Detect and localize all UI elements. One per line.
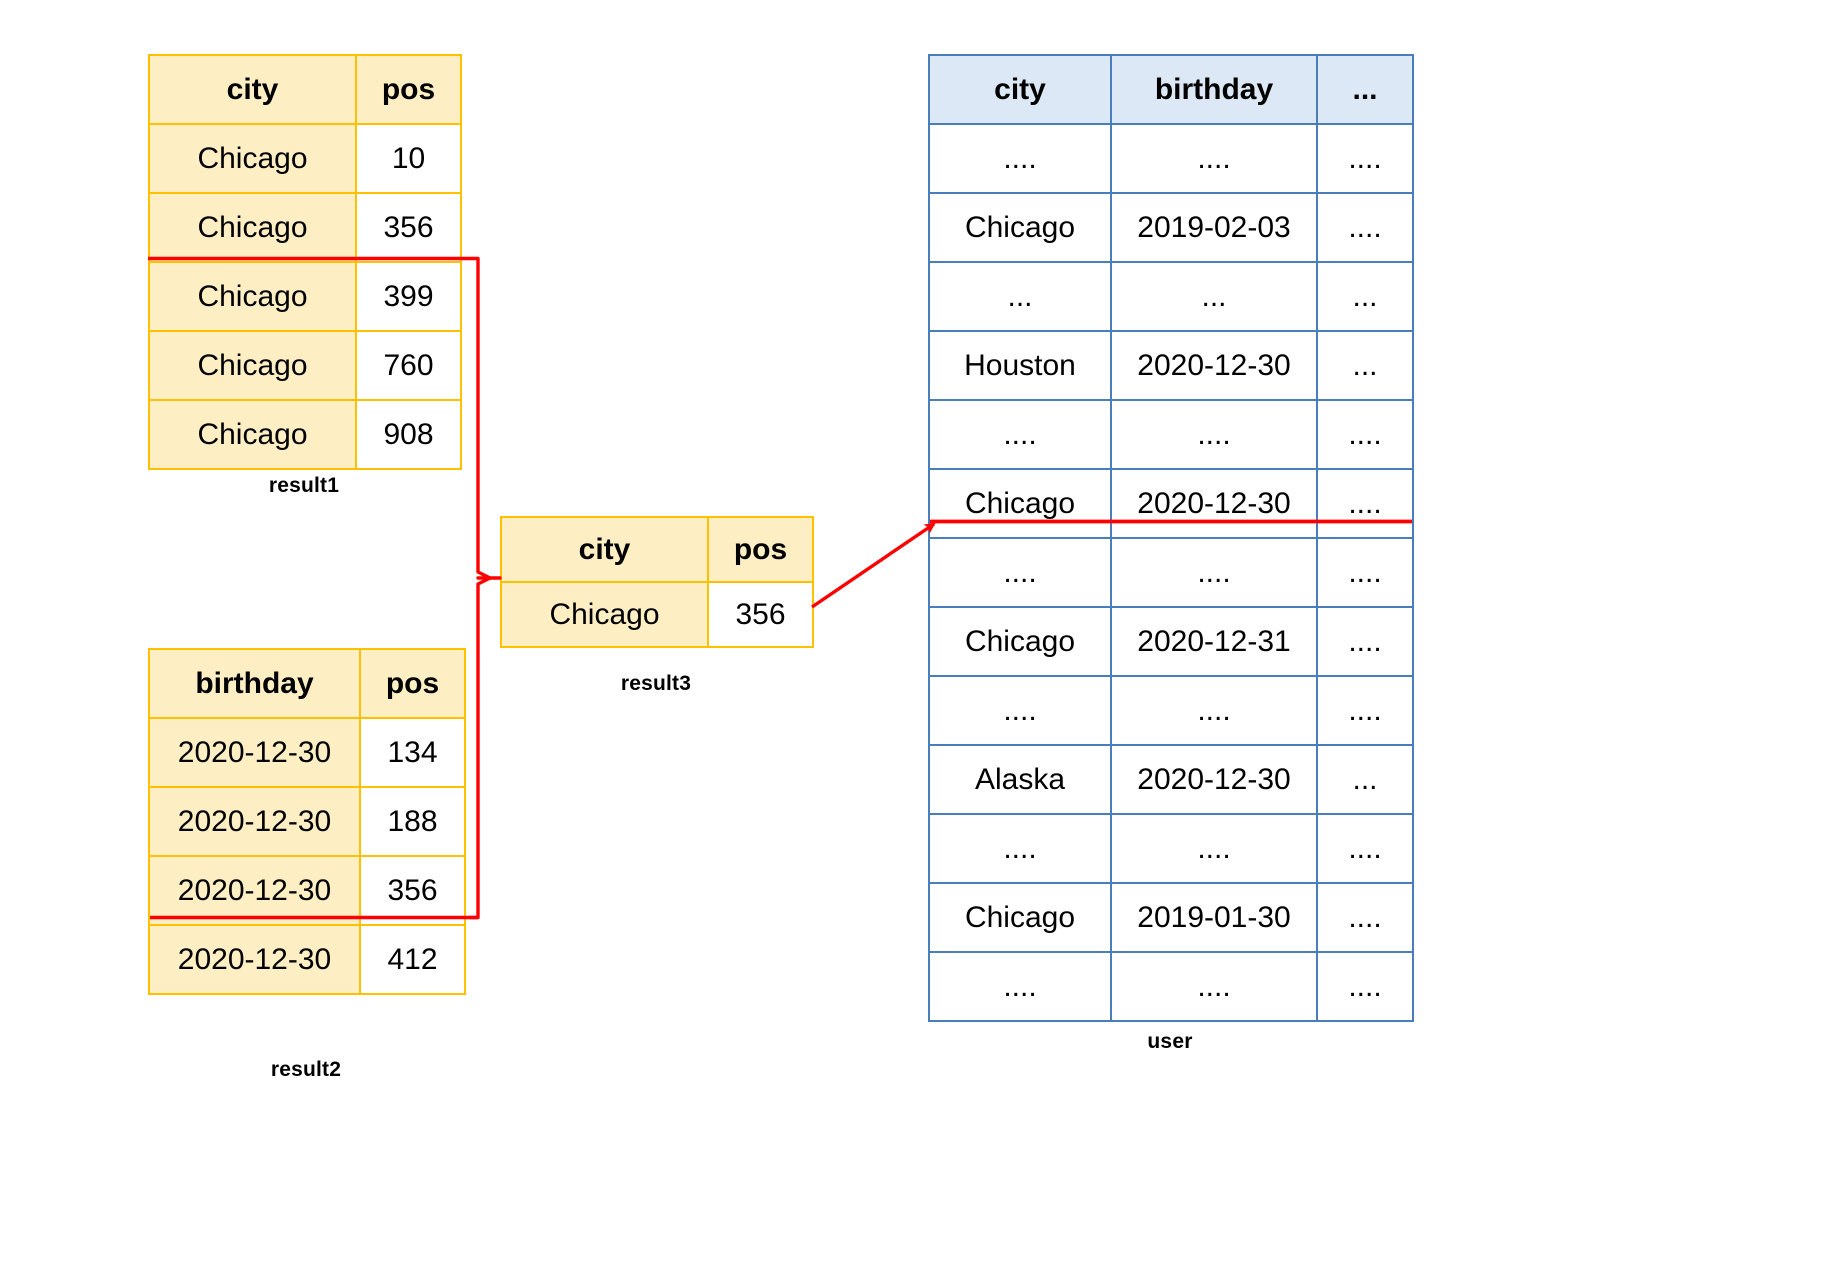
- cell-birthday: 2020-12-30: [149, 787, 360, 856]
- table-row: Houston 2020-12-30 ...: [929, 331, 1413, 400]
- column-header-birthday: birthday: [149, 649, 360, 718]
- cell-birthday: 2020-12-30: [1111, 469, 1317, 538]
- table-row: 2020-12-30 412: [149, 925, 465, 994]
- cell-city: Chicago: [149, 124, 356, 193]
- table-row: .... .... ....: [929, 676, 1413, 745]
- cell-extra: ....: [1317, 676, 1413, 745]
- column-header-pos: pos: [708, 517, 813, 582]
- cell-city: Chicago: [929, 883, 1111, 952]
- cell-birthday: ....: [1111, 124, 1317, 193]
- cell-pos: 134: [360, 718, 465, 787]
- cell-pos: 10: [356, 124, 461, 193]
- cell-birthday: 2019-01-30: [1111, 883, 1317, 952]
- cell-birthday: ....: [1111, 814, 1317, 883]
- cell-city: ....: [929, 400, 1111, 469]
- cell-city: Chicago: [149, 331, 356, 400]
- table-row: .... .... ....: [929, 124, 1413, 193]
- cell-extra: ...: [1317, 331, 1413, 400]
- cell-extra: ....: [1317, 883, 1413, 952]
- result3-caption: result3: [500, 672, 812, 696]
- user-table: city birthday ... .... .... .... Chicago…: [928, 54, 1414, 1022]
- table-row: Chicago 2020-12-30 ....: [929, 469, 1413, 538]
- cell-extra: ...: [1317, 262, 1413, 331]
- cell-birthday: 2020-12-31: [1111, 607, 1317, 676]
- cell-extra: ....: [1317, 400, 1413, 469]
- column-header-city: city: [501, 517, 708, 582]
- cell-pos: 356: [708, 582, 813, 647]
- cell-city: ....: [929, 814, 1111, 883]
- cell-city: ....: [929, 124, 1111, 193]
- cell-pos: 908: [356, 400, 461, 469]
- result1-caption: result1: [148, 474, 460, 498]
- table-row: .... .... ....: [929, 952, 1413, 1021]
- table-row: Chicago 908: [149, 400, 461, 469]
- table-row: 2020-12-30 188: [149, 787, 465, 856]
- cell-pos: 356: [360, 856, 465, 925]
- cell-city: Chicago: [149, 262, 356, 331]
- cell-city: ...: [929, 262, 1111, 331]
- table-row: 2020-12-30 134: [149, 718, 465, 787]
- cell-city: Chicago: [929, 193, 1111, 262]
- column-header-ellipsis: ...: [1317, 55, 1413, 124]
- diagram-canvas: city pos Chicago 10 Chicago 356 Chicago …: [0, 0, 1828, 1262]
- result3-to-user-arrow: [812, 524, 934, 607]
- cell-extra: ....: [1317, 814, 1413, 883]
- cell-birthday: 2020-12-30: [149, 856, 360, 925]
- cell-pos: 356: [356, 193, 461, 262]
- cell-city: ....: [929, 538, 1111, 607]
- result2-table: birthday pos 2020-12-30 134 2020-12-30 1…: [148, 648, 466, 995]
- cell-pos: 412: [360, 925, 465, 994]
- cell-extra: ....: [1317, 538, 1413, 607]
- cell-extra: ....: [1317, 193, 1413, 262]
- table-row: 2020-12-30 356: [149, 856, 465, 925]
- result2-caption: result2: [148, 1058, 464, 1082]
- cell-extra: ....: [1317, 124, 1413, 193]
- column-header-city: city: [149, 55, 356, 124]
- cell-birthday: ....: [1111, 400, 1317, 469]
- column-header-city: city: [929, 55, 1111, 124]
- table-header-row: birthday pos: [149, 649, 465, 718]
- merge-bracket-connector: [470, 259, 490, 918]
- cell-city: Chicago: [929, 607, 1111, 676]
- table-header-row: city pos: [149, 55, 461, 124]
- table-row: Chicago 356: [501, 582, 813, 647]
- cell-extra: ...: [1317, 745, 1413, 814]
- cell-birthday: ....: [1111, 676, 1317, 745]
- table-header-row: city birthday ...: [929, 55, 1413, 124]
- cell-city: Houston: [929, 331, 1111, 400]
- cell-birthday: 2020-12-30: [149, 718, 360, 787]
- result1-table: city pos Chicago 10 Chicago 356 Chicago …: [148, 54, 462, 470]
- cell-birthday: ....: [1111, 952, 1317, 1021]
- cell-extra: ....: [1317, 952, 1413, 1021]
- cell-extra: ....: [1317, 607, 1413, 676]
- result3-table: city pos Chicago 356: [500, 516, 814, 648]
- cell-city: Chicago: [149, 193, 356, 262]
- cell-city: Chicago: [501, 582, 708, 647]
- cell-birthday: ...: [1111, 262, 1317, 331]
- cell-city: ....: [929, 676, 1111, 745]
- table-row: Chicago 760: [149, 331, 461, 400]
- user-caption: user: [928, 1030, 1412, 1054]
- table-row: Chicago 2019-02-03 ....: [929, 193, 1413, 262]
- table-row: .... .... ....: [929, 814, 1413, 883]
- cell-city: Chicago: [149, 400, 356, 469]
- table-row: Chicago 356: [149, 193, 461, 262]
- table-row: Alaska 2020-12-30 ...: [929, 745, 1413, 814]
- cell-birthday: 2020-12-30: [1111, 331, 1317, 400]
- cell-birthday: 2019-02-03: [1111, 193, 1317, 262]
- table-row: ... ... ...: [929, 262, 1413, 331]
- table-row: Chicago 2020-12-31 ....: [929, 607, 1413, 676]
- table-row: Chicago 399: [149, 262, 461, 331]
- cell-city: ....: [929, 952, 1111, 1021]
- column-header-birthday: birthday: [1111, 55, 1317, 124]
- cell-pos: 760: [356, 331, 461, 400]
- table-row: Chicago 2019-01-30 ....: [929, 883, 1413, 952]
- column-header-pos: pos: [360, 649, 465, 718]
- cell-city: Chicago: [929, 469, 1111, 538]
- cell-extra: ....: [1317, 469, 1413, 538]
- table-row: .... .... ....: [929, 538, 1413, 607]
- cell-city: Alaska: [929, 745, 1111, 814]
- cell-pos: 399: [356, 262, 461, 331]
- column-header-pos: pos: [356, 55, 461, 124]
- cell-pos: 188: [360, 787, 465, 856]
- table-header-row: city pos: [501, 517, 813, 582]
- table-row: Chicago 10: [149, 124, 461, 193]
- cell-birthday: 2020-12-30: [1111, 745, 1317, 814]
- table-row: .... .... ....: [929, 400, 1413, 469]
- cell-birthday: ....: [1111, 538, 1317, 607]
- cell-birthday: 2020-12-30: [149, 925, 360, 994]
